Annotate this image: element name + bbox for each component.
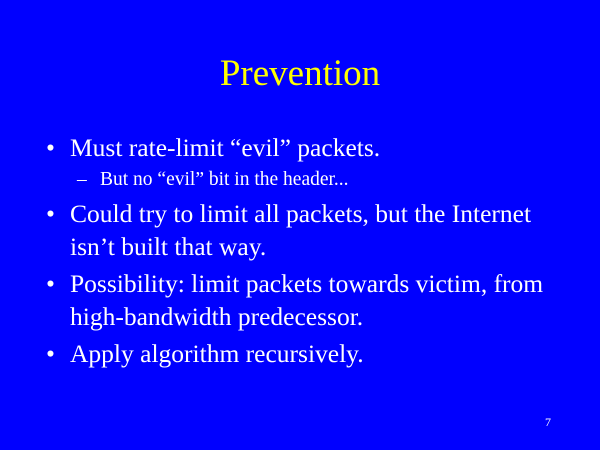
bullet-item: • Apply algorithm recursively.	[44, 337, 556, 370]
slide-title: Prevention	[0, 52, 600, 96]
bullet-item: • Must rate-limit “evil” packets.	[44, 131, 556, 164]
bullet-text: Could try to limit all packets, but the …	[70, 197, 556, 263]
bullet-text: Possibility: limit packets towards victi…	[70, 267, 556, 333]
bullet-dot-icon: •	[46, 197, 66, 230]
bullet-item: • Possibility: limit packets towards vic…	[44, 267, 556, 333]
bullet-dot-icon: •	[46, 267, 66, 300]
bullet-dot-icon: •	[46, 131, 66, 164]
sub-bullet-dash-icon: –	[77, 166, 97, 193]
bullet-text: Apply algorithm recursively.	[70, 337, 556, 370]
bullet-text: Must rate-limit “evil” packets.	[70, 131, 556, 164]
slide-page-number: 7	[545, 415, 551, 429]
bullet-dot-icon: •	[46, 337, 66, 370]
slide-body-content: • Must rate-limit “evil” packets. – But …	[44, 131, 556, 370]
sub-bullet-item: – But no “evil” bit in the header...	[44, 166, 556, 193]
presentation-slide: Prevention • Must rate-limit “evil” pack…	[0, 0, 600, 450]
bullet-item: • Could try to limit all packets, but th…	[44, 197, 556, 263]
sub-bullet-text: But no “evil” bit in the header...	[100, 166, 556, 193]
